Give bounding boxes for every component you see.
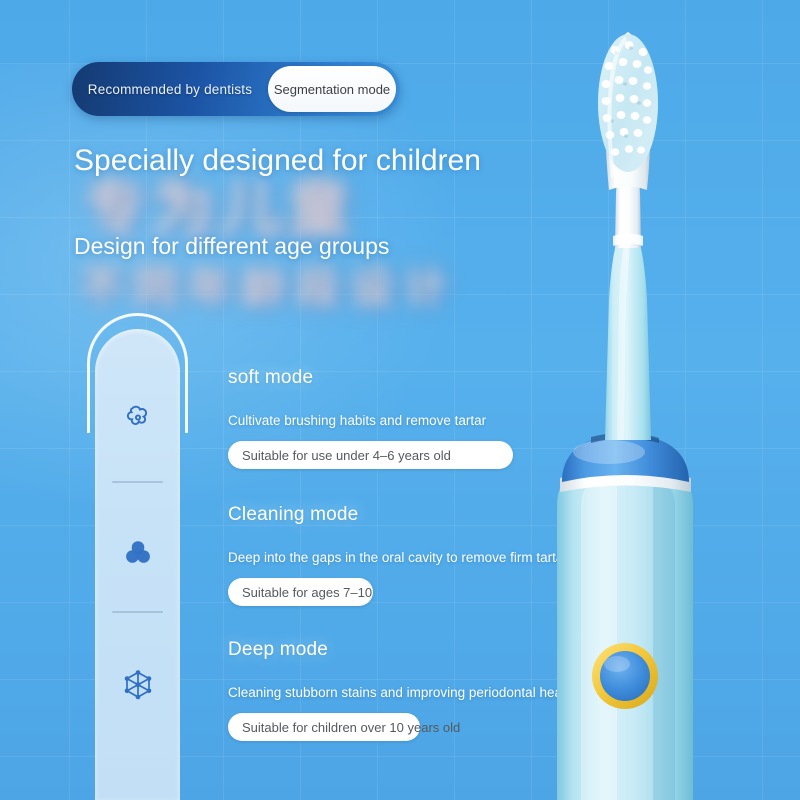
soft-mode-icon[interactable] <box>95 401 180 435</box>
toggle-option-recommended[interactable]: Recommended by dentists <box>72 62 268 116</box>
electric-toothbrush-image <box>505 0 800 800</box>
mode-badge-label: Suitable for use under 4–6 years old <box>242 441 451 469</box>
toggle-option-segmentation[interactable]: Segmentation mode <box>268 66 396 112</box>
deep-mode-icon[interactable] <box>95 667 180 703</box>
icon-panel <box>95 329 180 800</box>
mode-badge-label: Suitable for ages 7–10 <box>242 578 372 606</box>
page-subtitle: Design for different age groups <box>74 230 544 262</box>
panel-divider <box>112 611 163 613</box>
mode-badge-label: Suitable for children over 10 years old <box>242 713 460 741</box>
cleaning-mode-icon[interactable] <box>95 536 180 570</box>
page-title: Specially designed for children <box>74 140 504 182</box>
mode-toggle[interactable]: Recommended by dentists Segmentation mod… <box>72 62 400 116</box>
panel-divider <box>112 481 163 483</box>
